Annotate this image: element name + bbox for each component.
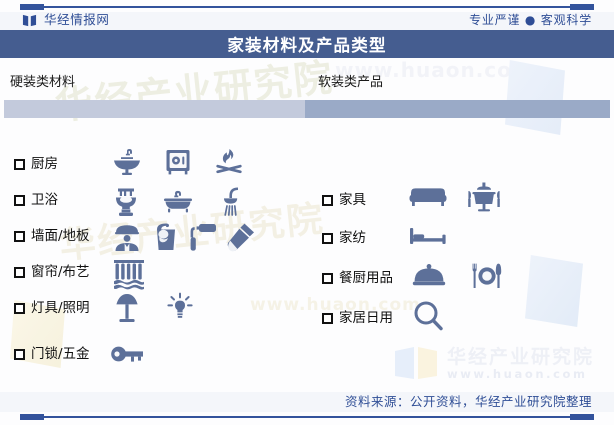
list-item-lighting[interactable]: 灯具/照明 [14, 302, 90, 316]
list-item-household[interactable]: 家居日用 [322, 312, 393, 326]
watermark-shape-2 [525, 255, 583, 327]
footer-brand-url: www.huaon.com [447, 369, 594, 381]
icon-group-furniture [408, 182, 502, 212]
list-item-label: 厨房 [31, 158, 58, 172]
sink-icon [112, 148, 142, 176]
list-item-label: 餐厨用品 [339, 272, 393, 286]
top-rule [0, 2, 614, 12]
watermark-shape-1 [505, 60, 565, 135]
fire-stove-icon [214, 148, 244, 176]
list-item-label: 窗帘/布艺 [31, 266, 90, 280]
icon-group-lock-hardware [110, 344, 144, 364]
icon-group-lighting [112, 292, 196, 324]
bottom-rule-line [22, 416, 592, 418]
bed-icon [408, 226, 448, 246]
key-icon [110, 344, 144, 364]
plate-cutlery-icon [470, 262, 504, 290]
list-item-label: 灯具/照明 [31, 302, 90, 316]
section-heading-hard: 硬装类材料 [10, 76, 75, 89]
list-item-kitchenware[interactable]: 餐厨用品 [322, 272, 393, 286]
huaon-flag-logo-icon [393, 345, 439, 383]
source-text: 资料来源：公开资料，华经产业研究院整理 [345, 396, 592, 409]
list-item-label: 墙面/地板 [31, 230, 90, 244]
toilet-icon [112, 187, 140, 217]
bottom-rule-cap-left [20, 414, 44, 420]
icon-group-wall-floor [112, 222, 256, 252]
dining-table-icon [466, 182, 502, 212]
shower-icon [216, 186, 244, 218]
paint-brush-icon [226, 222, 256, 252]
list-item-label: 家具 [339, 194, 366, 208]
list-item-lock-hardware[interactable]: 门锁/五金 [14, 348, 90, 362]
paint-roller-icon [188, 222, 218, 252]
checkbox-textile[interactable] [322, 233, 333, 244]
icon-group-kitchenware [412, 262, 504, 290]
list-item-curtain[interactable]: 窗帘/布艺 [14, 266, 90, 280]
footer-brand-watermark: 华经产业研究院 www.huaon.com [393, 345, 594, 383]
section-divider-soft [305, 100, 610, 118]
checkbox-bathroom[interactable] [14, 195, 25, 206]
top-rule-cap-right [570, 4, 594, 10]
watermark-center-text: 华经产业研究院 [52, 41, 389, 155]
page-title: 家装材料及产品类型 [227, 32, 386, 56]
checkbox-kitchen[interactable] [14, 159, 25, 170]
magnifier-icon [412, 300, 444, 332]
safe-cabinet-icon [164, 148, 192, 176]
bathtub-icon [162, 189, 194, 215]
checkbox-curtain[interactable] [14, 267, 25, 278]
list-item-kitchen[interactable]: 厨房 [14, 158, 58, 172]
icon-group-curtain [112, 258, 146, 292]
list-item-bathroom[interactable]: 卫浴 [14, 194, 58, 208]
table-lamp-icon [112, 292, 142, 324]
checkbox-kitchenware[interactable] [322, 273, 333, 284]
brand-logo-text: 华经情报网 [44, 14, 110, 27]
icon-group-household [412, 300, 444, 332]
book-logo-icon [22, 13, 37, 28]
light-bulb-icon [164, 292, 196, 324]
poster-root: 华经情报网 专业严谨 ● 客观科学 家装材料及产品类型 华经产业研究院 华经产业… [0, 0, 614, 425]
list-item-furniture[interactable]: 家具 [322, 194, 366, 208]
list-item-label: 卫浴 [31, 194, 58, 208]
icon-group-textile [408, 226, 448, 246]
section-heading-soft: 软装类产品 [318, 76, 383, 89]
top-rule-line [22, 6, 592, 8]
icon-group-bathroom [112, 186, 244, 218]
checkbox-household[interactable] [322, 313, 333, 324]
list-item-textile[interactable]: 家纺 [322, 232, 366, 246]
bottom-rule-cap-right [570, 414, 594, 420]
header-tagline: 专业严谨 ● 客观科学 [469, 14, 592, 26]
icon-group-kitchen [112, 148, 244, 176]
footer-brand-text: 华经产业研究院 www.huaon.com [447, 348, 594, 381]
brand-logo: 华经情报网 [22, 13, 110, 28]
title-band: 家装材料及产品类型 [0, 30, 614, 58]
worker-icon [112, 222, 142, 252]
paint-bucket-icon [150, 222, 180, 252]
sofa-icon [408, 185, 448, 209]
checkbox-lighting[interactable] [14, 303, 25, 314]
list-item-label: 门锁/五金 [31, 348, 90, 362]
footer-brand-name: 华经产业研究院 [447, 348, 594, 367]
checkbox-wall-floor[interactable] [14, 231, 25, 242]
curtain-icon [112, 258, 146, 292]
section-divider-hard [4, 100, 305, 118]
list-item-label: 家居日用 [339, 312, 393, 326]
checkbox-lock-hardware[interactable] [14, 349, 25, 360]
list-item-label: 家纺 [339, 232, 366, 246]
bottom-rule [0, 412, 614, 422]
list-item-wall-floor[interactable]: 墙面/地板 [14, 230, 90, 244]
checkbox-furniture[interactable] [322, 195, 333, 206]
top-rule-cap-left [20, 4, 44, 10]
food-cloche-icon [412, 263, 446, 289]
